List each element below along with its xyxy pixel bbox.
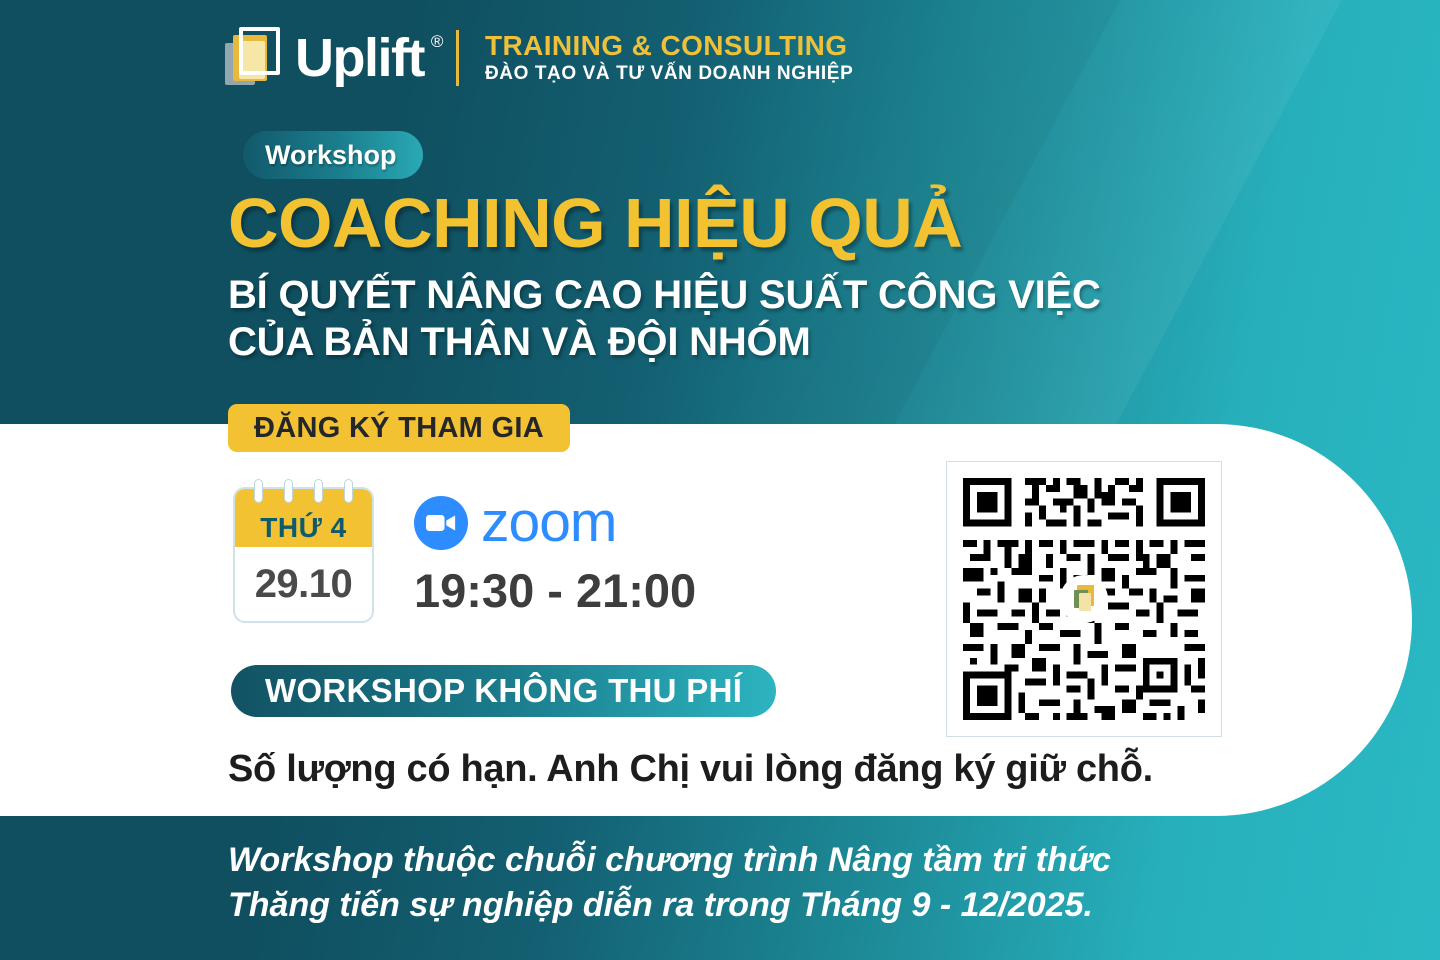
zoom-wordmark: zoom — [481, 494, 616, 551]
workshop-badge: Workshop — [243, 131, 423, 179]
brand-wordmark-text: Uplift — [295, 28, 424, 88]
session-time: 19:30 - 21:00 — [414, 563, 696, 618]
brand-wordmark: Uplift® — [295, 31, 442, 85]
video-camera-icon — [414, 496, 468, 550]
registered-mark-icon: ® — [431, 33, 442, 50]
uplift-logo-icon — [225, 27, 283, 89]
footer-note-line2: Thăng tiến sự nghiệp diễn ra trong Tháng… — [228, 883, 1111, 928]
tagline-english: TRAINING & CONSULTING — [485, 31, 853, 61]
qr-code[interactable] — [946, 461, 1222, 737]
qr-center-uplift-logo-icon — [1060, 575, 1108, 623]
free-workshop-label: WORKSHOP KHÔNG THU PHÍ — [265, 672, 742, 710]
calendar-icon: THỨ 4 29.10 — [233, 487, 374, 623]
footer-note: Workshop thuộc chuỗi chương trình Nâng t… — [228, 838, 1111, 928]
logo-square-white-outline — [239, 27, 280, 75]
calendar-date: 29.10 — [235, 547, 372, 621]
tagline-vietnamese: ĐÀO TẠO VÀ TƯ VẤN DOANH NGHIỆP — [485, 64, 853, 85]
brand-tagline: TRAINING & CONSULTING ĐÀO TẠO VÀ TƯ VẤN … — [485, 31, 853, 85]
calendar-weekday-label: THỨ 4 — [260, 512, 346, 544]
workshop-badge-label: Workshop — [265, 140, 397, 171]
footer-note-line1: Workshop thuộc chuỗi chương trình Nâng t… — [228, 838, 1111, 883]
free-workshop-badge: WORKSHOP KHÔNG THU PHÍ — [231, 665, 776, 717]
calendar-date-label: 29.10 — [255, 562, 353, 607]
zoom-logo: zoom — [414, 494, 616, 551]
brand-header: Uplift® TRAINING & CONSULTING ĐÀO TẠO VÀ… — [225, 22, 853, 94]
header-divider — [456, 30, 459, 86]
calendar-weekday: THỨ 4 — [235, 489, 372, 547]
page-subtitle-line1: BÍ QUYẾT NÂNG CAO HIỆU SUẤT CÔNG VIỆC — [228, 272, 1101, 319]
page-title: COACHING HIỆU QUẢ — [228, 186, 962, 260]
qr-logo-square-cream — [1079, 593, 1091, 611]
register-badge[interactable]: ĐĂNG KÝ THAM GIA — [228, 404, 570, 452]
page-subtitle: BÍ QUYẾT NÂNG CAO HIỆU SUẤT CÔNG VIỆC CỦ… — [228, 272, 1101, 366]
page-subtitle-line2: CỦA BẢN THÂN VÀ ĐỘI NHÓM — [228, 319, 1101, 366]
limited-seats-note: Số lượng có hạn. Anh Chị vui lòng đăng k… — [228, 748, 1153, 791]
register-badge-label: ĐĂNG KÝ THAM GIA — [254, 412, 544, 445]
promo-poster: Uplift® TRAINING & CONSULTING ĐÀO TẠO VÀ… — [0, 0, 1440, 960]
